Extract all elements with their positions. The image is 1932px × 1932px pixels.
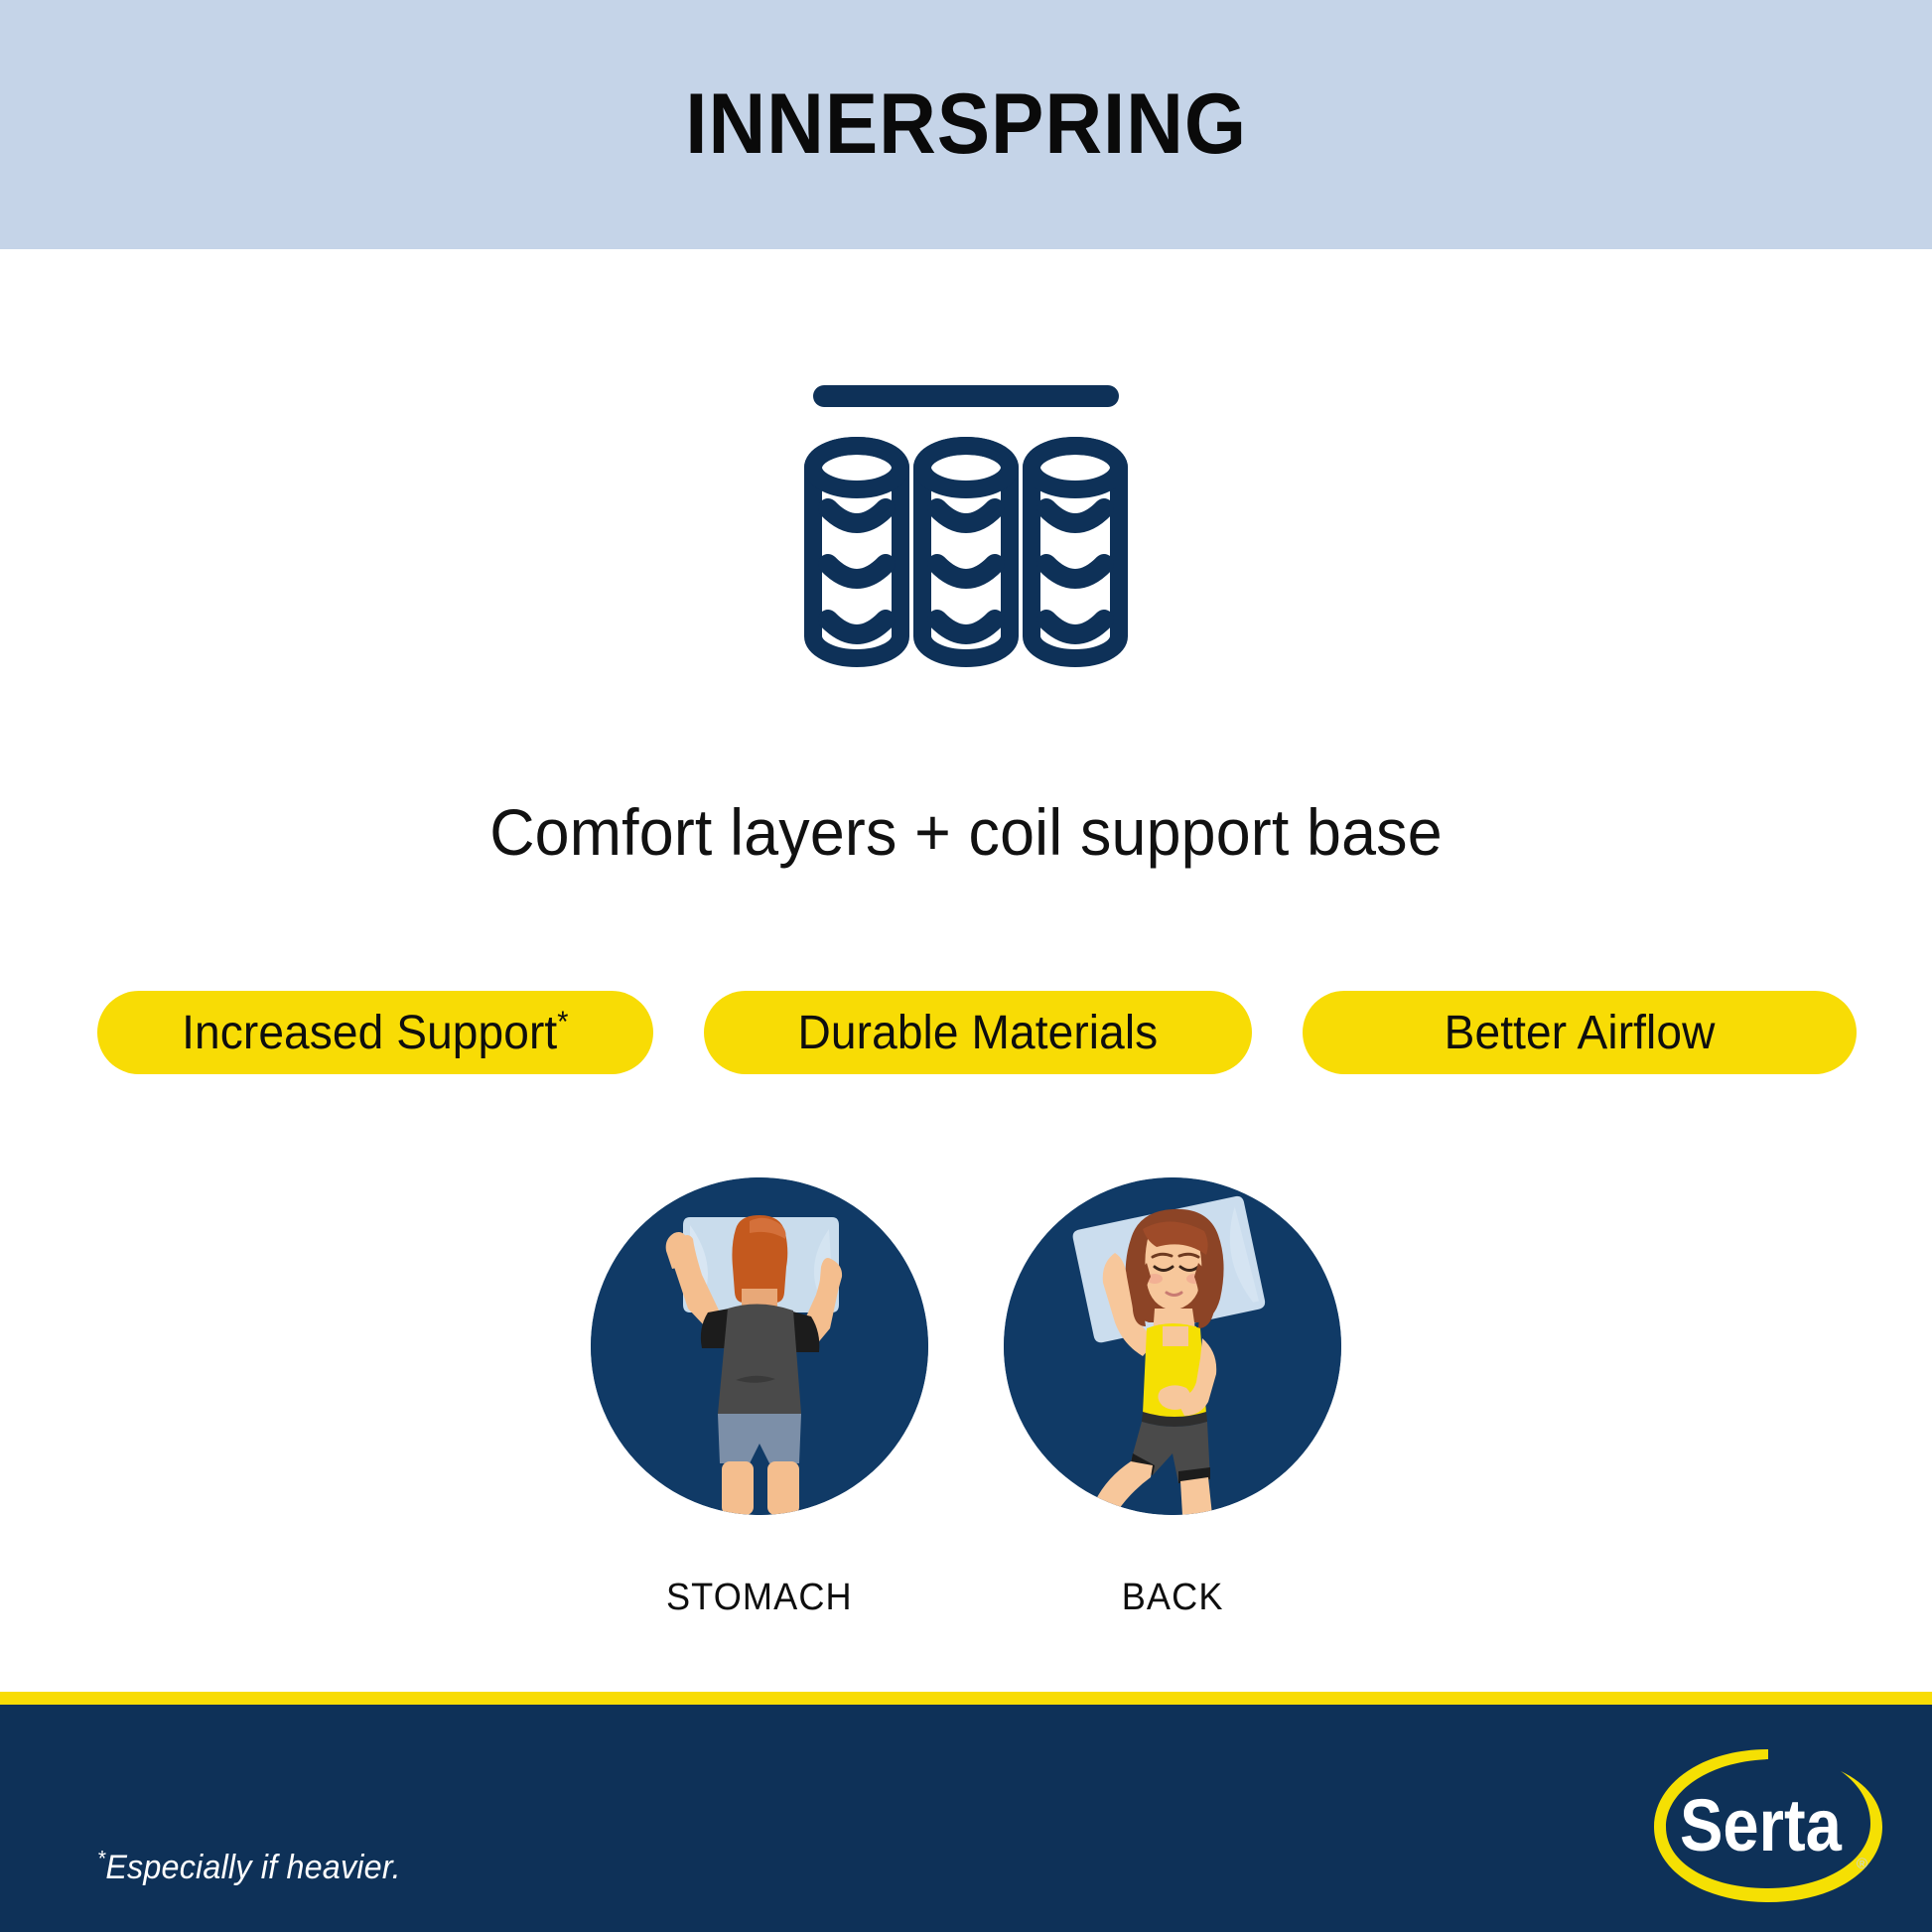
subtitle-text: Comfort layers + coil support base bbox=[49, 794, 1884, 870]
sleep-position-stomach[interactable]: STOMACH bbox=[591, 1177, 928, 1619]
footnote-marker-icon: * bbox=[97, 1847, 105, 1871]
coil-cylinder-3 bbox=[1032, 446, 1119, 658]
coil-cylinder-1 bbox=[813, 446, 900, 658]
footnote-text: *Especially if heavier. bbox=[97, 1849, 401, 1887]
sleep-position-back[interactable]: BACK bbox=[1004, 1177, 1341, 1619]
sleep-position-label: BACK bbox=[1122, 1577, 1224, 1619]
footer-accent-stripe bbox=[0, 1692, 1932, 1705]
coil-icon-container bbox=[0, 369, 1932, 707]
feature-pill-label: Increased Support* bbox=[182, 1006, 569, 1060]
header-band: INNERSPRING bbox=[0, 0, 1932, 249]
coil-cylinder-2 bbox=[922, 446, 1010, 658]
feature-pill-label: Durable Materials bbox=[798, 1006, 1159, 1060]
feature-pill-better-airflow[interactable]: Better Airflow bbox=[1303, 991, 1857, 1074]
feature-pill-row: Increased Support* Durable Materials Bet… bbox=[97, 991, 1857, 1074]
feature-pill-label: Better Airflow bbox=[1445, 1006, 1716, 1060]
sleep-position-label: STOMACH bbox=[666, 1577, 853, 1619]
registered-trademark-icon: ® bbox=[1857, 1856, 1867, 1872]
coil-top-bar bbox=[813, 385, 1119, 407]
stomach-sleeper-illustration bbox=[591, 1177, 928, 1515]
back-sleeper-illustration bbox=[1004, 1177, 1341, 1515]
stomach-sleeper-circle bbox=[591, 1177, 928, 1515]
page-title: INNERSPRING bbox=[685, 75, 1247, 174]
footnote-marker-icon: * bbox=[557, 1006, 568, 1038]
coil-spring-icon bbox=[797, 369, 1135, 707]
feature-pill-increased-support[interactable]: Increased Support* bbox=[97, 991, 653, 1074]
feature-pill-durable-materials[interactable]: Durable Materials bbox=[704, 991, 1252, 1074]
serta-logo[interactable]: Serta ® bbox=[1640, 1741, 1896, 1915]
serta-logo-mark: Serta ® bbox=[1640, 1741, 1896, 1910]
back-sleeper-circle bbox=[1004, 1177, 1341, 1515]
sleep-position-row: STOMACH bbox=[0, 1177, 1932, 1619]
serta-wordmark: Serta bbox=[1680, 1784, 1843, 1866]
